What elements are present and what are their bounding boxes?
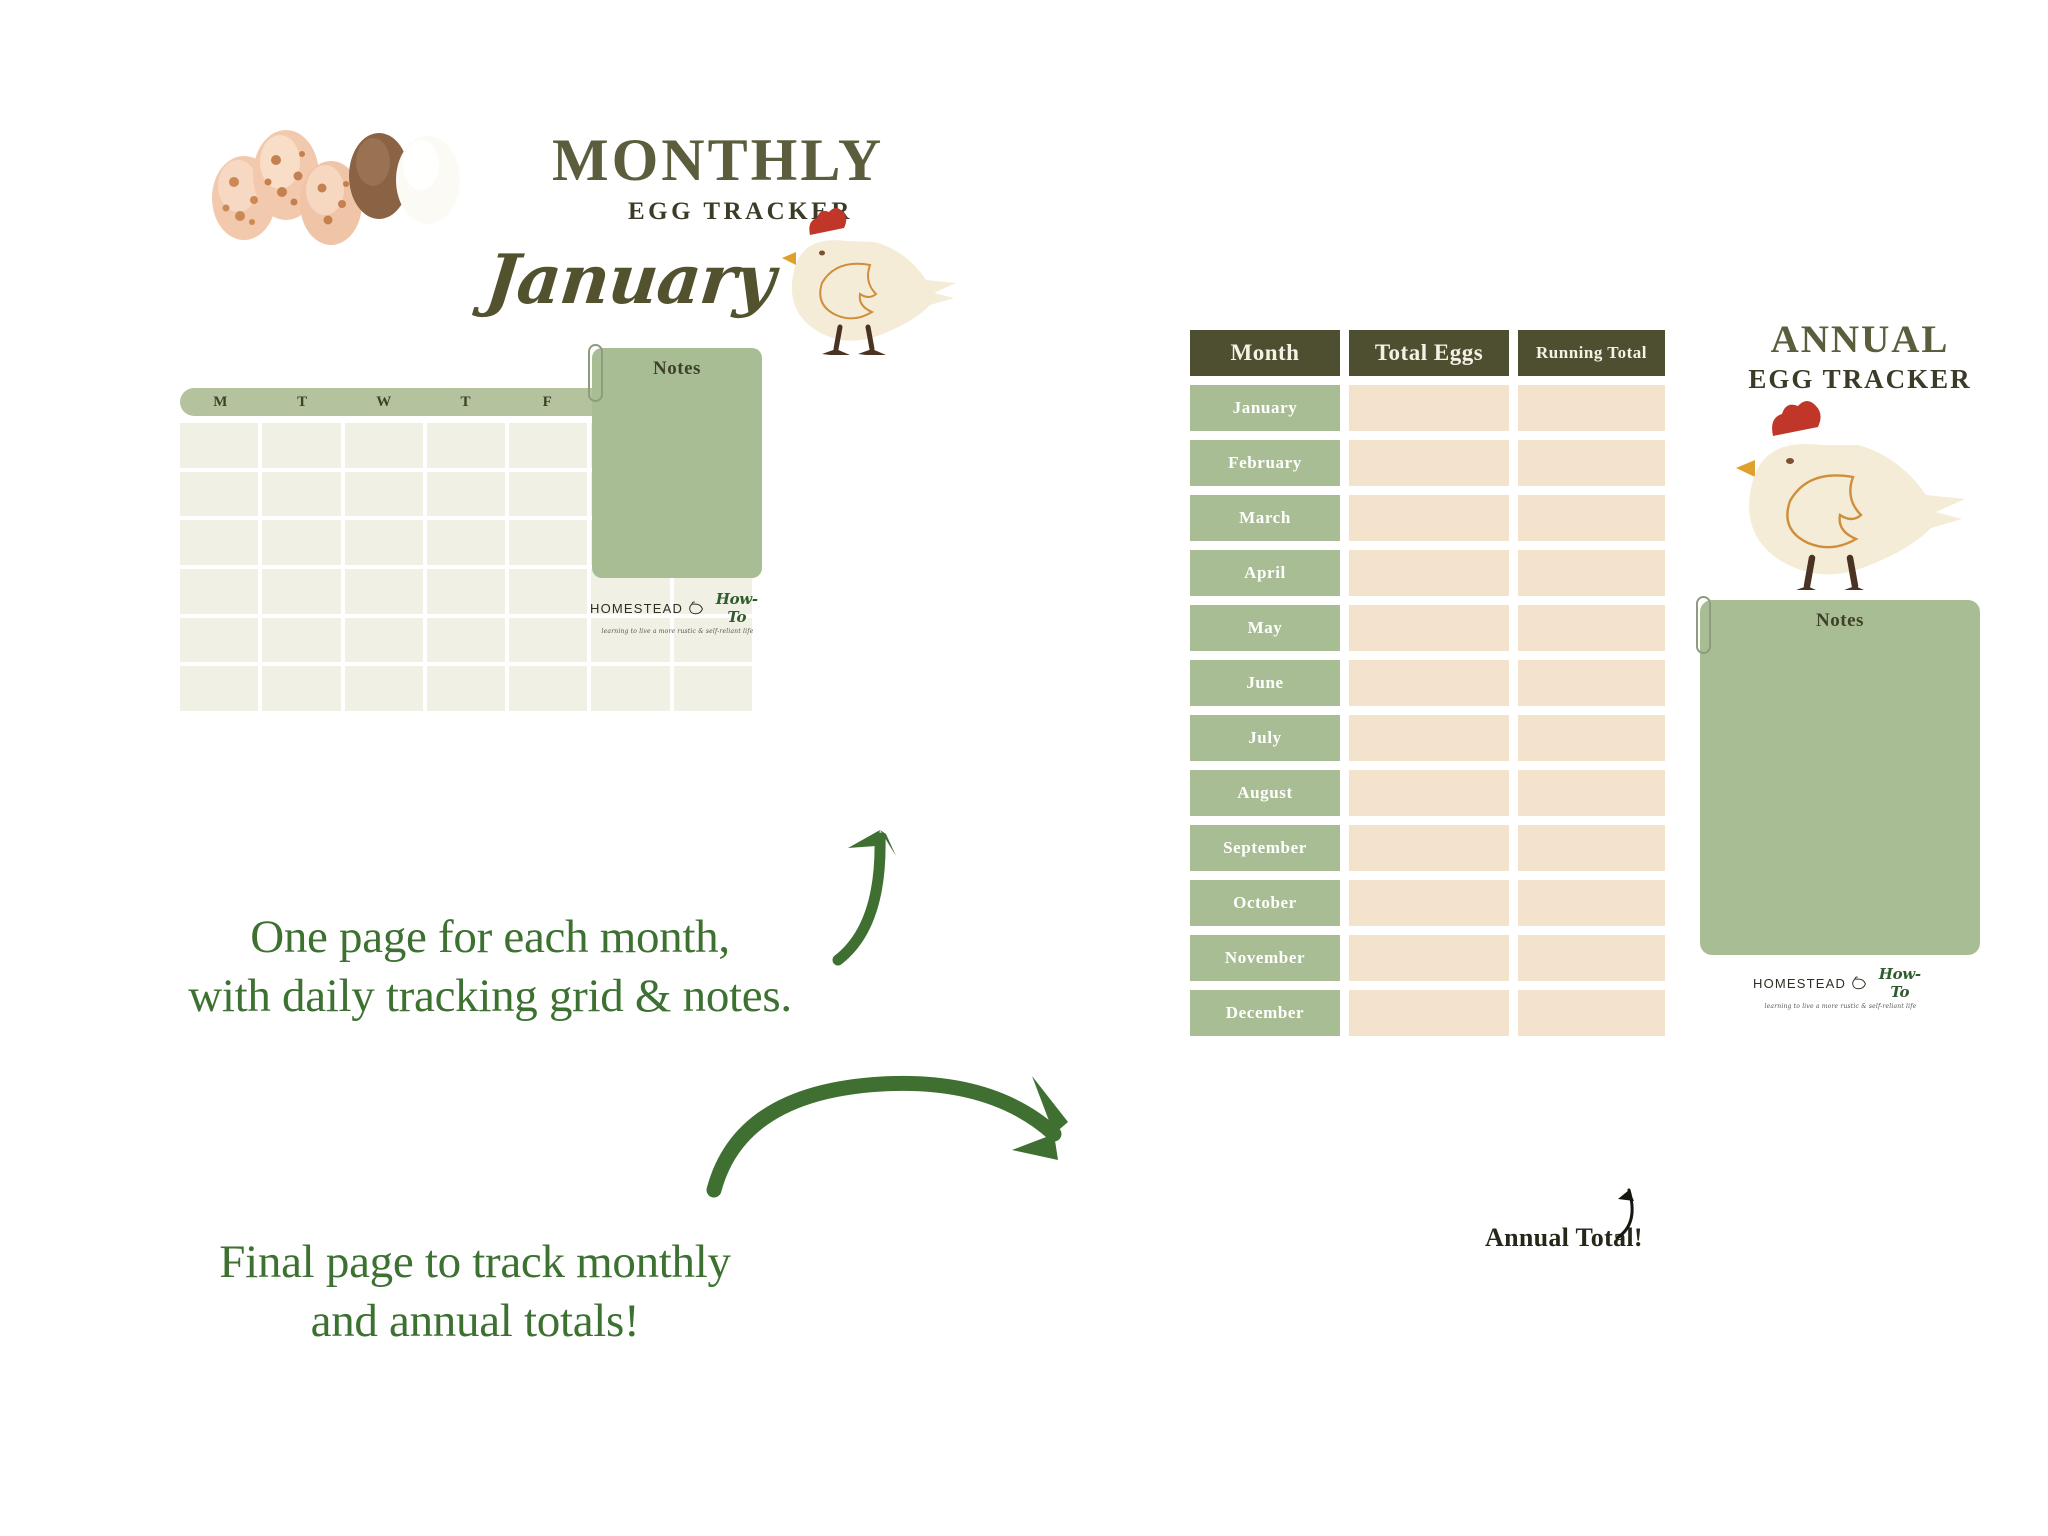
curved-arrow-right-icon bbox=[700, 1060, 1120, 1230]
month-label-july: July bbox=[1190, 715, 1340, 761]
annual-tracker-page: ANNUAL EGG TRACKER Notes HOMESTEAD bbox=[1190, 330, 2000, 1280]
notes-title: Notes bbox=[1700, 610, 1980, 632]
calendar-day-cell[interactable] bbox=[674, 666, 752, 711]
brand-name-secondary: How-To bbox=[1872, 965, 1928, 1001]
calendar-day-cell[interactable] bbox=[427, 618, 505, 663]
annotation-monthly: One page for each month, with daily trac… bbox=[95, 908, 885, 1026]
calendar-day-cell[interactable] bbox=[509, 423, 587, 468]
weekday-thu: T bbox=[425, 388, 507, 416]
calendar-day-cell[interactable] bbox=[180, 618, 258, 663]
calendar-day-cell[interactable] bbox=[180, 520, 258, 565]
calendar-day-cell[interactable] bbox=[509, 666, 587, 711]
table-header-row: MonthTotal EggsRunning Total bbox=[1190, 330, 1665, 376]
column-header-month: Month bbox=[1190, 330, 1340, 376]
brand-name-primary: HOMESTEAD bbox=[1753, 976, 1846, 991]
running-total-input-cell[interactable] bbox=[1518, 385, 1665, 431]
total-eggs-input-cell[interactable] bbox=[1349, 550, 1509, 596]
total-eggs-input-cell[interactable] bbox=[1349, 990, 1509, 1036]
calendar-day-cell[interactable] bbox=[427, 569, 505, 614]
calendar-day-cell[interactable] bbox=[427, 520, 505, 565]
brand-tagline: learning to live a more rustic & self-re… bbox=[590, 628, 765, 635]
total-eggs-input-cell[interactable] bbox=[1349, 605, 1509, 651]
monthly-notes-card[interactable]: Notes bbox=[592, 348, 762, 578]
running-total-input-cell[interactable] bbox=[1518, 660, 1665, 706]
calendar-day-cell[interactable] bbox=[345, 569, 423, 614]
calendar-day-cell[interactable] bbox=[427, 666, 505, 711]
running-total-input-cell[interactable] bbox=[1518, 495, 1665, 541]
calendar-day-cell[interactable] bbox=[345, 666, 423, 711]
month-label-march: March bbox=[1190, 495, 1340, 541]
calendar-day-cell[interactable] bbox=[509, 618, 587, 663]
total-eggs-input-cell[interactable] bbox=[1349, 715, 1509, 761]
calendar-day-cell[interactable] bbox=[180, 666, 258, 711]
curved-arrow-up-icon bbox=[820, 800, 1030, 990]
total-eggs-input-cell[interactable] bbox=[1349, 440, 1509, 486]
calendar-day-cell[interactable] bbox=[262, 666, 340, 711]
running-total-input-cell[interactable] bbox=[1518, 990, 1665, 1036]
annual-notes-card[interactable]: Notes bbox=[1700, 600, 1980, 955]
table-row: August bbox=[1190, 770, 1665, 816]
brand-logo: HOMESTEAD How-To learning to live a more… bbox=[1753, 965, 1928, 1010]
annual-page-title: ANNUAL bbox=[1695, 320, 2025, 359]
total-eggs-input-cell[interactable] bbox=[1349, 825, 1509, 871]
calendar-day-cell[interactable] bbox=[591, 666, 669, 711]
calendar-day-cell[interactable] bbox=[427, 423, 505, 468]
month-label-january: January bbox=[1190, 385, 1340, 431]
total-eggs-input-cell[interactable] bbox=[1349, 770, 1509, 816]
table-row: October bbox=[1190, 880, 1665, 926]
table-row: December bbox=[1190, 990, 1665, 1036]
table-row: September bbox=[1190, 825, 1665, 871]
annotation-annual-line2: and annual totals! bbox=[95, 1292, 855, 1351]
running-total-input-cell[interactable] bbox=[1518, 935, 1665, 981]
chicken-icon bbox=[1695, 400, 1975, 590]
table-row: March bbox=[1190, 495, 1665, 541]
running-total-input-cell[interactable] bbox=[1518, 605, 1665, 651]
annotation-monthly-line2: with daily tracking grid & notes. bbox=[95, 967, 885, 1026]
total-eggs-input-cell[interactable] bbox=[1349, 660, 1509, 706]
month-label-october: October bbox=[1190, 880, 1340, 926]
total-eggs-input-cell[interactable] bbox=[1349, 880, 1509, 926]
calendar-day-cell[interactable] bbox=[509, 569, 587, 614]
total-eggs-input-cell[interactable] bbox=[1349, 495, 1509, 541]
chicken-logo-icon bbox=[1851, 976, 1866, 990]
running-total-input-cell[interactable] bbox=[1518, 440, 1665, 486]
page-title: MONTHLY bbox=[552, 130, 952, 190]
calendar-day-cell[interactable] bbox=[262, 423, 340, 468]
running-total-input-cell[interactable] bbox=[1518, 770, 1665, 816]
calendar-day-cell[interactable] bbox=[345, 472, 423, 517]
calendar-day-cell[interactable] bbox=[509, 472, 587, 517]
table-row: January bbox=[1190, 385, 1665, 431]
calendar-day-cell[interactable] bbox=[509, 520, 587, 565]
chicken-logo-icon bbox=[688, 601, 703, 615]
month-label-february: February bbox=[1190, 440, 1340, 486]
notes-title: Notes bbox=[592, 358, 762, 380]
calendar-day-cell[interactable] bbox=[345, 520, 423, 565]
weekday-fri: F bbox=[507, 388, 589, 416]
calendar-day-cell[interactable] bbox=[262, 472, 340, 517]
table-row: July bbox=[1190, 715, 1665, 761]
annual-title-block: ANNUAL EGG TRACKER bbox=[1695, 320, 2025, 395]
running-total-input-cell[interactable] bbox=[1518, 880, 1665, 926]
egg-cluster-icon bbox=[204, 120, 474, 250]
annotation-annual: Final page to track monthly and annual t… bbox=[95, 1233, 855, 1351]
brand-name-primary: HOMESTEAD bbox=[590, 601, 683, 616]
month-label-november: November bbox=[1190, 935, 1340, 981]
annual-page-subtitle: EGG TRACKER bbox=[1695, 364, 2025, 395]
calendar-day-cell[interactable] bbox=[180, 569, 258, 614]
calendar-day-cell[interactable] bbox=[345, 618, 423, 663]
running-total-input-cell[interactable] bbox=[1518, 715, 1665, 761]
column-header-running-total: Running Total bbox=[1518, 330, 1665, 376]
total-eggs-input-cell[interactable] bbox=[1349, 385, 1509, 431]
curved-arrow-up-icon bbox=[1575, 1170, 1645, 1240]
calendar-day-cell[interactable] bbox=[180, 423, 258, 468]
calendar-day-cell[interactable] bbox=[262, 618, 340, 663]
brand-name-secondary: How-To bbox=[709, 590, 765, 626]
poster-canvas: MONTHLY EGG TRACKER January M T W T F S … bbox=[0, 0, 2048, 1536]
calendar-day-cell[interactable] bbox=[262, 569, 340, 614]
weekday-tue: T bbox=[262, 388, 344, 416]
weekday-wed: W bbox=[343, 388, 425, 416]
annual-totals-table: MonthTotal EggsRunning TotalJanuaryFebru… bbox=[1190, 330, 1665, 1045]
weekday-mon: M bbox=[180, 388, 262, 416]
table-row: May bbox=[1190, 605, 1665, 651]
table-row: June bbox=[1190, 660, 1665, 706]
calendar-day-cell[interactable] bbox=[180, 472, 258, 517]
calendar-day-cell[interactable] bbox=[427, 472, 505, 517]
brand-logo: HOMESTEAD How-To learning to live a more… bbox=[590, 590, 765, 635]
month-label-september: September bbox=[1190, 825, 1340, 871]
total-eggs-input-cell[interactable] bbox=[1349, 935, 1509, 981]
month-label-april: April bbox=[1190, 550, 1340, 596]
chicken-icon bbox=[750, 205, 960, 355]
brand-tagline: learning to live a more rustic & self-re… bbox=[1753, 1003, 1928, 1010]
calendar-day-cell[interactable] bbox=[345, 423, 423, 468]
monthly-tracker-page: MONTHLY EGG TRACKER January M T W T F S … bbox=[180, 120, 1010, 800]
month-label-june: June bbox=[1190, 660, 1340, 706]
month-label-december: December bbox=[1190, 990, 1340, 1036]
running-total-input-cell[interactable] bbox=[1518, 825, 1665, 871]
running-total-input-cell[interactable] bbox=[1518, 550, 1665, 596]
table-row: February bbox=[1190, 440, 1665, 486]
calendar-day-cell[interactable] bbox=[262, 520, 340, 565]
month-label-august: August bbox=[1190, 770, 1340, 816]
table-row: April bbox=[1190, 550, 1665, 596]
month-label-may: May bbox=[1190, 605, 1340, 651]
annotation-monthly-line1: One page for each month, bbox=[95, 908, 885, 967]
column-header-total-eggs: Total Eggs bbox=[1349, 330, 1509, 376]
annotation-annual-line1: Final page to track monthly bbox=[95, 1233, 855, 1292]
table-row: November bbox=[1190, 935, 1665, 981]
